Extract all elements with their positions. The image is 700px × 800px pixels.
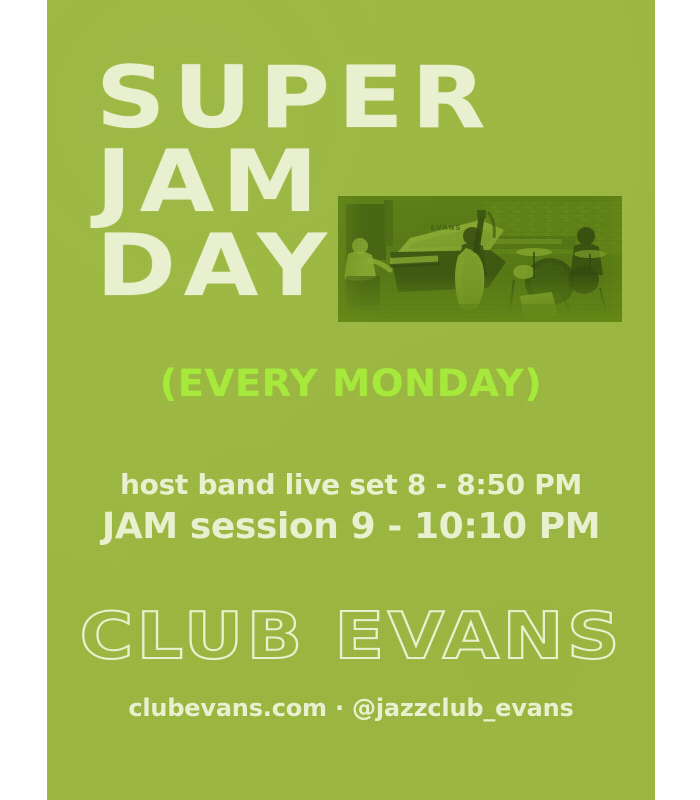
poster-headline: SUPER JAM DAY (96, 56, 636, 308)
headline-line-2: JAM (96, 140, 655, 224)
headline-line-1: SUPER (96, 56, 655, 140)
footer-contact-block: clubevans.com · @jazzclub_evans (47, 693, 655, 723)
venue-name-text: CLUB EVANS (79, 602, 622, 672)
schedule-block: host band live set 8 - 8:50 PM JAM sessi… (47, 466, 655, 550)
subheading-every-monday: (EVERY MONDAY) (47, 364, 655, 404)
poster-canvas: EVANS (0, 0, 700, 800)
schedule-host-band-line: host band live set 8 - 8:50 PM (47, 466, 655, 504)
venue-name-block: CLUB EVANS (47, 602, 655, 672)
footer-contact-text[interactable]: clubevans.com · @jazzclub_evans (128, 693, 573, 723)
poster-green-panel: EVANS (47, 0, 655, 800)
subheading-text: (EVERY MONDAY) (160, 364, 543, 404)
headline-line-3: DAY (96, 224, 655, 308)
schedule-jam-session-line: JAM session 9 - 10:10 PM (47, 504, 655, 550)
